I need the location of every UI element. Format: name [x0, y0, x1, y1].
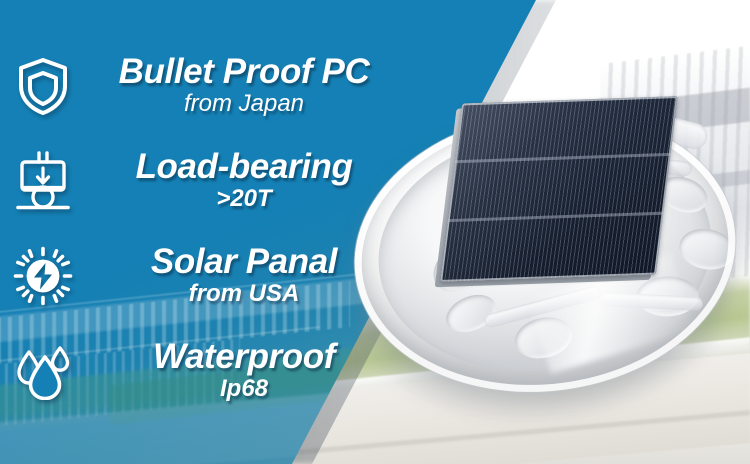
- solar-panel: [440, 96, 678, 282]
- product-feature-banner: Bullet Proof PC from Japan: [0, 0, 750, 464]
- load-bearing-icon: [0, 151, 86, 211]
- feature-title: Bullet Proof PC: [86, 54, 402, 90]
- solar-sun-icon: [0, 246, 86, 306]
- water-drops-icon: [0, 342, 86, 400]
- solar-panel-sheen: [440, 96, 678, 282]
- solar-panel-face: [440, 96, 678, 282]
- shield-icon: [0, 56, 86, 116]
- solar-road-stud-product-image: [332, 95, 750, 425]
